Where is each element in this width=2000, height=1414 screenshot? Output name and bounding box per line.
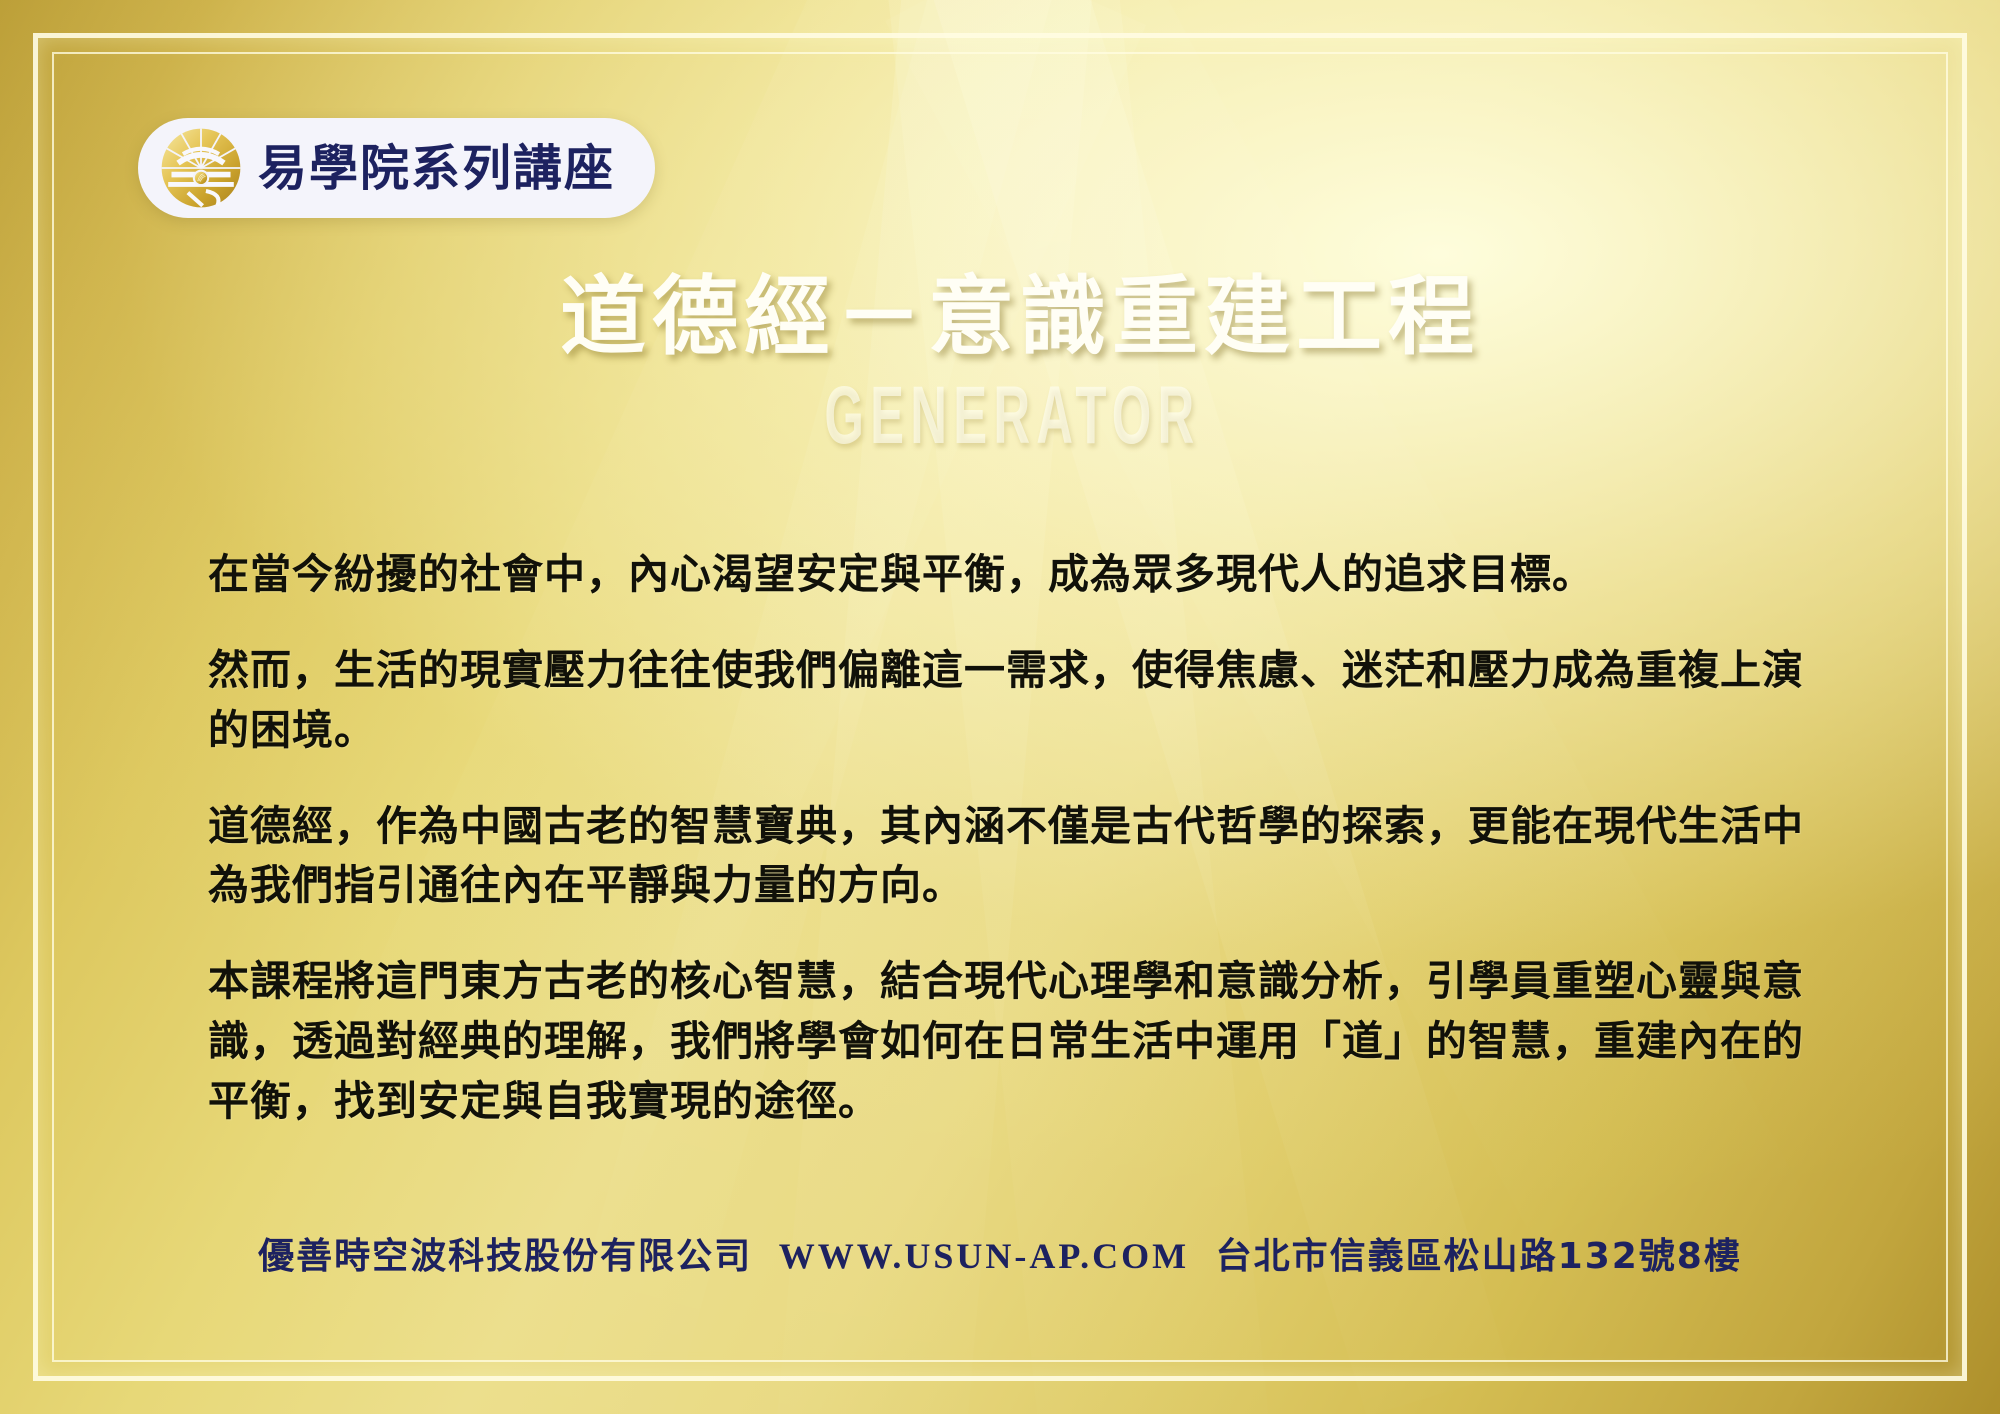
body-paragraph: 道德經，作為中國古老的智慧寶典，其內涵不僅是古代哲學的探索，更能在現代生活中為我… (208, 797, 1830, 917)
body-paragraph: 在當今紛擾的社會中，內心渴望安定與平衡，成為眾多現代人的追求目標。 (208, 545, 1830, 605)
sunburst-dome-logo-icon (160, 127, 242, 209)
footer-company: 優善時空波科技股份有限公司 (258, 1236, 752, 1277)
footer-address: 台北市信義區松山路132號8樓 (1216, 1236, 1742, 1277)
series-badge: 易學院系列講座 (138, 118, 655, 218)
series-badge-label: 易學院系列講座 (258, 144, 615, 193)
page-subtitle: GENERATOR (380, 375, 1620, 457)
poster-canvas: 易學院系列講座 道德經－意識重建工程 GENERATOR 在當今紛擾的社會中，內… (0, 0, 2000, 1414)
body-copy: 在當今紛擾的社會中，內心渴望安定與平衡，成為眾多現代人的追求目標。 然而，生活的… (208, 545, 1830, 1132)
title-block: 道德經－意識重建工程 GENERATOR (0, 272, 2000, 457)
footer-bar: 優善時空波科技股份有限公司 WWW.USUN-AP.COM 台北市信義區松山路1… (0, 1227, 2000, 1279)
body-paragraph: 本課程將這門東方古老的核心智慧，結合現代心理學和意識分析，引學員重塑心靈與意識，… (208, 952, 1830, 1132)
footer-website[interactable]: WWW.USUN-AP.COM (779, 1236, 1189, 1276)
body-paragraph: 然而，生活的現實壓力往往使我們偏離這一需求，使得焦慮、迷茫和壓力成為重複上演的困… (208, 641, 1830, 761)
page-title: 道德經－意識重建工程 (0, 272, 2000, 363)
